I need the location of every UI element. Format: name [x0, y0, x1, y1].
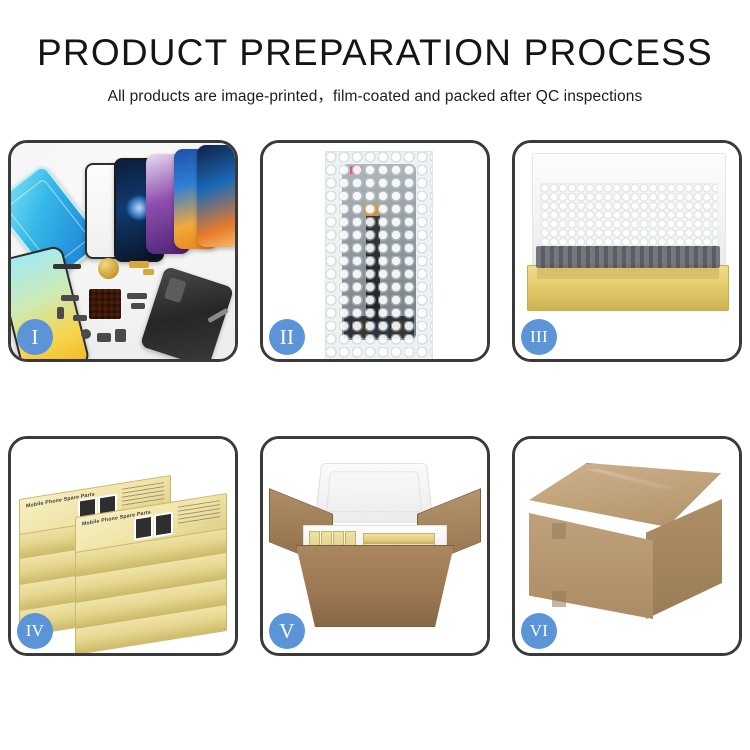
step-panel-2[interactable]: II	[260, 140, 490, 362]
box-spec-lines-right	[178, 500, 220, 527]
header: PRODUCT PREPARATION PROCESS All products…	[0, 0, 750, 106]
battery-connector-icon	[115, 329, 126, 342]
packing-tape-seam-lower	[552, 591, 566, 607]
step-panel-1[interactable]: I	[8, 140, 238, 362]
page-subtitle: All products are image-printed，film-coat…	[0, 73, 750, 106]
sim-tray-icon	[97, 333, 111, 342]
steps-grid: I II	[8, 140, 742, 680]
page-title: PRODUCT PREPARATION PROCESS	[0, 0, 750, 73]
packed-box-flat-1	[363, 533, 435, 543]
step-panel-3[interactable]: III	[512, 140, 742, 362]
step-panel-6[interactable]: VI	[512, 436, 742, 656]
tray-inner-edge	[537, 268, 719, 279]
step-badge-6: VI	[521, 613, 557, 649]
logic-board-chip-icon	[89, 289, 121, 319]
vibrator-motor-icon	[81, 329, 91, 339]
screw-bracket-icon	[57, 307, 64, 319]
step-panel-4[interactable]: Mobile Phone Spare Parts Mobile Phone Sp…	[8, 436, 238, 656]
step-badge-3: III	[521, 319, 557, 355]
bubble-wrap-bag	[325, 151, 433, 359]
box-stack: Mobile Phone Spare Parts Mobile Phone Sp…	[19, 457, 229, 643]
step-badge-1: I	[17, 319, 53, 355]
metal-shield-icon	[73, 315, 87, 321]
step-badge-2: II	[269, 319, 305, 355]
step-panel-5[interactable]: V	[260, 436, 490, 656]
box-art-screen-right-a	[134, 515, 153, 541]
phone-display-gradient-icon	[197, 145, 235, 247]
speaker-module-icon	[98, 258, 119, 279]
carton-body	[296, 545, 454, 627]
packing-tape-seam-upper	[552, 523, 566, 539]
flex-cable-icon	[129, 261, 149, 268]
earpiece-mesh-icon	[53, 264, 81, 269]
yellow-box-tray	[527, 265, 729, 311]
flex-connector-icon	[143, 269, 154, 275]
antenna-flex-icon	[127, 293, 147, 299]
step-badge-4: IV	[17, 613, 53, 649]
box-art-screen-right-b	[154, 512, 173, 538]
camera-flex-icon	[131, 303, 145, 309]
product-preparation-infographic: PRODUCT PREPARATION PROCESS All products…	[0, 0, 750, 750]
bracket-icon	[61, 295, 79, 301]
bubble-texture-overlay	[326, 152, 432, 359]
step-badge-5: V	[269, 613, 305, 649]
